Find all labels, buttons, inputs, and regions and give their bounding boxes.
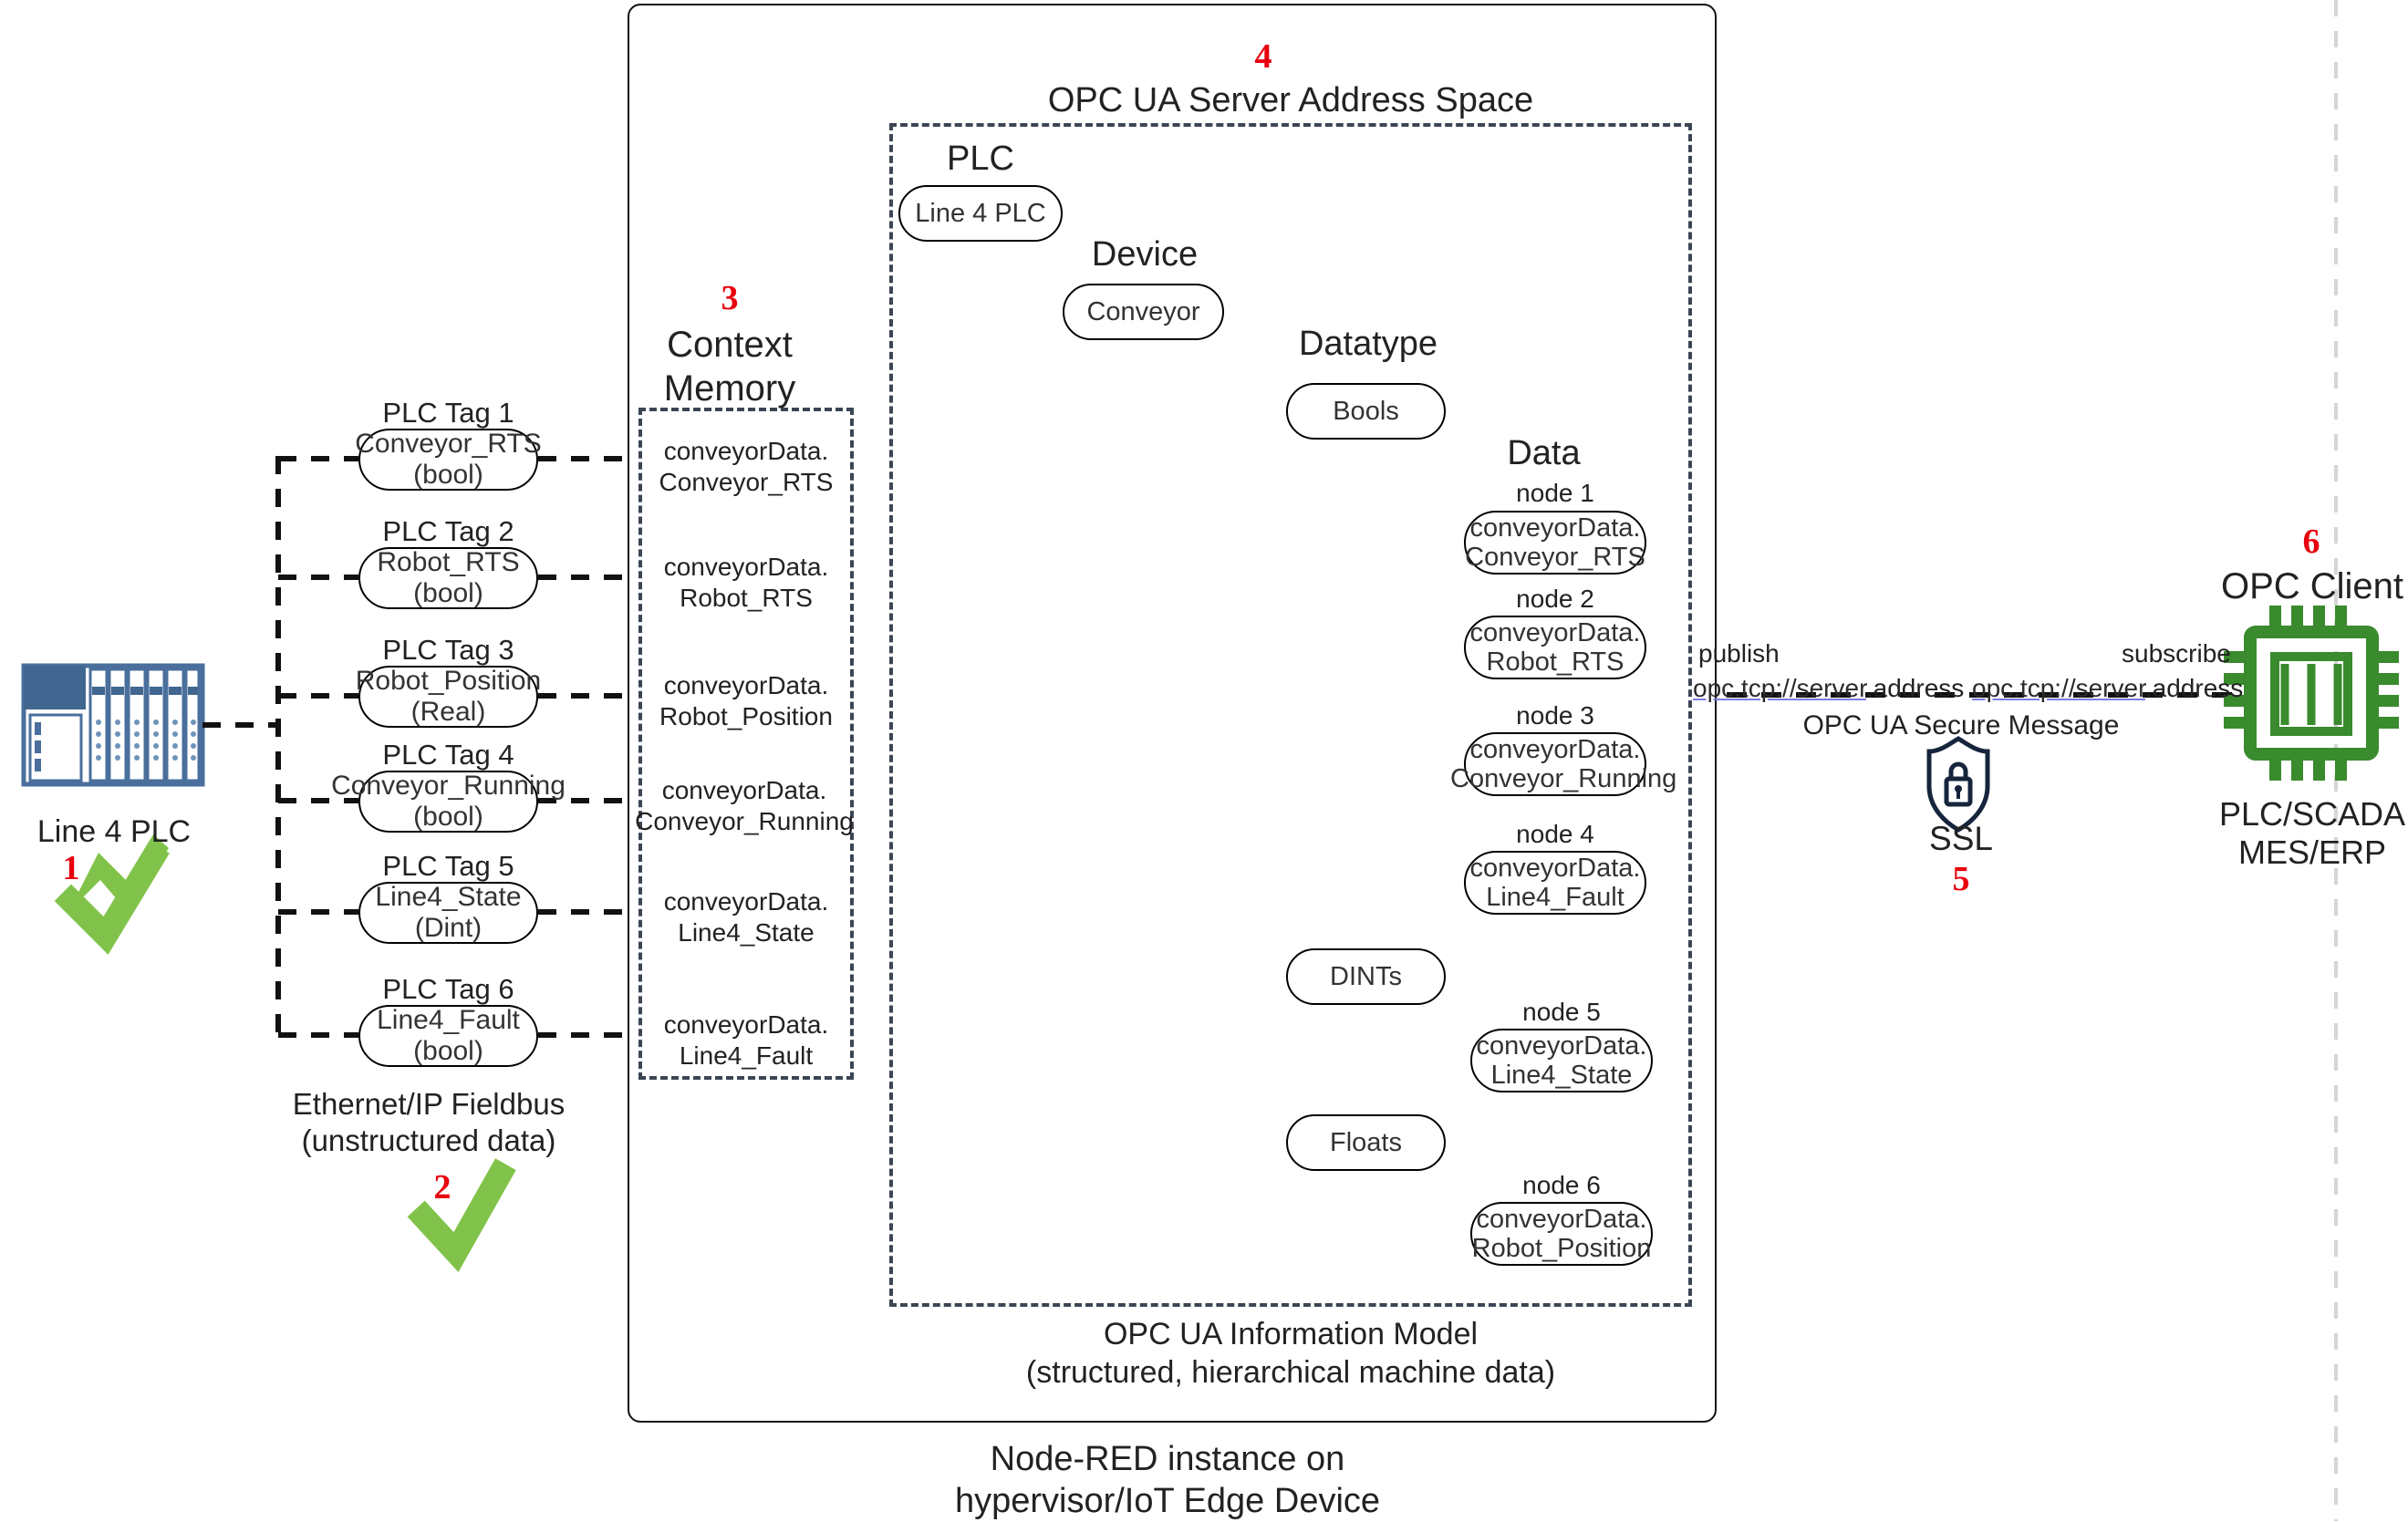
data-node-caption: node 4: [1464, 819, 1646, 850]
data-node[interactable]: conveyorData. Robot_RTS: [1464, 616, 1646, 679]
data-node-caption: node 2: [1464, 584, 1646, 615]
column-header-plc: PLC: [908, 139, 1053, 180]
publish-url-link[interactable]: opc.tcp://server: [1693, 674, 1866, 702]
address-node-label: Line 4 PLC: [915, 199, 1046, 228]
plc-tag-name: Conveyor_RTS: [355, 429, 542, 460]
data-node-line1: conveyorData.: [1470, 854, 1641, 883]
data-node-caption: node 6: [1470, 1170, 1653, 1201]
data-node[interactable]: conveyorData. Line4_Fault: [1464, 851, 1646, 915]
fieldbus-label-line2: (unstructured data): [255, 1123, 602, 1159]
plc-tag-caption: PLC Tag 5: [358, 850, 538, 884]
information-model-caption-line1: OPC UA Information Model: [889, 1316, 1692, 1352]
context-memory-entry: conveyorData.: [638, 1009, 854, 1041]
address-space-title: OPC UA Server Address Space: [889, 80, 1692, 121]
data-node-line2: Robot_Position: [1472, 1234, 1652, 1263]
context-memory-entry: conveyorData.: [633, 775, 856, 806]
plc-tag-node[interactable]: Robot_Position (Real): [358, 666, 538, 728]
plc-tag-type: (bool): [413, 802, 483, 833]
address-node-device[interactable]: Conveyor: [1063, 284, 1224, 340]
plc-device-label: Line 4 PLC: [0, 813, 228, 850]
column-header-datatype: Datatype: [1277, 324, 1459, 365]
plc-tag-name: Line4_State: [375, 882, 521, 913]
context-memory-entry: conveyorData.: [638, 436, 854, 467]
data-node[interactable]: conveyorData. Conveyor_Running: [1464, 732, 1646, 796]
plc-tag-type: (bool): [413, 578, 483, 609]
data-node-line1: conveyorData.: [1470, 513, 1641, 543]
step-4-number: 4: [1236, 36, 1291, 77]
data-node-line2: Line4_State: [1491, 1061, 1633, 1090]
context-memory-entry: Line4_Fault: [638, 1041, 854, 1072]
nodered-footer-line1: Node-RED instance on: [848, 1439, 1487, 1480]
step-5-number: 5: [1934, 859, 1988, 899]
plc-tag-type: (bool): [413, 460, 483, 491]
data-node[interactable]: conveyorData. Conveyor_RTS: [1464, 511, 1646, 575]
context-memory-entry: conveyorData.: [638, 552, 854, 583]
fieldbus-label-line1: Ethernet/IP Fieldbus: [255, 1087, 602, 1123]
plc-tag-node[interactable]: Line4_State (Dint): [358, 882, 538, 944]
plc-tag-name: Robot_RTS: [377, 547, 519, 578]
subscribe-label: subscribe: [2122, 638, 2231, 669]
plc-tag-name: Robot_Position: [356, 666, 541, 697]
publish-label: publish: [1698, 638, 1780, 669]
subscribe-url-link[interactable]: opc.tcp://server: [1972, 674, 2145, 702]
data-node-line1: conveyorData.: [1470, 618, 1641, 647]
plc-tag-caption: PLC Tag 1: [358, 397, 538, 430]
data-node[interactable]: conveyorData. Robot_Position: [1470, 1202, 1653, 1266]
opc-client-title: OPC Client: [2171, 565, 2408, 608]
plc-rack-icon: [24, 666, 202, 784]
publish-endpoint-url[interactable]: opc.tcp://server.address: [1693, 673, 1964, 704]
data-node-line1: conveyorData.: [1477, 1031, 1647, 1061]
subscribe-url-tail: .address: [2145, 674, 2243, 702]
plc-tag-caption: PLC Tag 3: [358, 634, 538, 668]
data-node-line2: Conveyor_Running: [1450, 764, 1660, 793]
plc-tag-node[interactable]: Conveyor_Running (bool): [358, 771, 538, 833]
publish-url-tail: .address: [1866, 674, 1964, 702]
context-memory-entry: Robot_Position: [638, 701, 854, 732]
context-memory-entry: Conveyor_Running: [633, 806, 856, 837]
plc-tag-node[interactable]: Line4_Fault (bool): [358, 1005, 538, 1067]
shield-lock-icon: [1929, 739, 1988, 830]
step-2-number: 2: [415, 1167, 470, 1207]
data-node-line1: conveyorData.: [1477, 1205, 1647, 1234]
step-6-number: 6: [2284, 522, 2339, 562]
address-node-label: Conveyor: [1086, 297, 1199, 326]
data-node[interactable]: conveyorData. Line4_State: [1470, 1029, 1653, 1092]
context-memory-title-line1: Context: [611, 324, 848, 367]
context-memory-entry: conveyorData.: [638, 670, 854, 701]
information-model-caption-line2: (structured, hierarchical machine data): [889, 1354, 1692, 1391]
context-memory-title-line2: Memory: [611, 368, 848, 410]
plc-tag-caption: PLC Tag 6: [358, 973, 538, 1007]
address-node-plc[interactable]: Line 4 PLC: [898, 185, 1063, 242]
data-node-line1: conveyorData.: [1470, 735, 1641, 764]
ssl-label: SSL: [1874, 819, 2048, 859]
opc-client-sub-line1: PLC/SCADA: [2171, 795, 2408, 833]
context-memory-entry: conveyorData.: [638, 886, 854, 917]
plc-tag-type: (Real): [411, 697, 486, 728]
address-node-label: Floats: [1330, 1128, 1402, 1157]
data-node-line2: Robot_RTS: [1487, 647, 1624, 677]
cpu-chip-icon: [2224, 606, 2399, 781]
data-node-caption: node 5: [1470, 997, 1653, 1028]
secure-message-label: OPC UA Secure Message: [1733, 709, 2189, 742]
address-node-label: Bools: [1333, 397, 1399, 426]
address-node-label: DINTs: [1330, 962, 1402, 991]
address-node-datatype[interactable]: Bools: [1286, 383, 1446, 440]
plc-tag-caption: PLC Tag 2: [358, 515, 538, 549]
column-header-device: Device: [1063, 234, 1227, 275]
column-header-data: Data: [1464, 433, 1624, 474]
address-node-datatype[interactable]: Floats: [1286, 1114, 1446, 1171]
address-node-datatype[interactable]: DINTs: [1286, 948, 1446, 1005]
data-node-caption: node 1: [1464, 478, 1646, 509]
context-memory-entry: Line4_State: [638, 917, 854, 948]
plc-tag-type: (Dint): [415, 913, 482, 944]
plc-tag-caption: PLC Tag 4: [358, 739, 538, 772]
nodered-footer-line2: hypervisor/IoT Edge Device: [848, 1481, 1487, 1522]
subscribe-endpoint-url[interactable]: opc.tcp://server.address: [1972, 673, 2243, 704]
data-node-caption: node 3: [1464, 700, 1646, 731]
context-memory-entry: Robot_RTS: [638, 583, 854, 614]
data-node-line2: Conveyor_RTS: [1465, 543, 1645, 572]
plc-tag-type: (bool): [413, 1036, 483, 1067]
step-3-number: 3: [702, 278, 757, 318]
plc-tag-node[interactable]: Conveyor_RTS (bool): [358, 429, 538, 491]
plc-tag-node[interactable]: Robot_RTS (bool): [358, 547, 538, 609]
plc-tag-name: Line4_Fault: [377, 1005, 520, 1036]
data-node-line2: Line4_Fault: [1486, 883, 1624, 912]
context-memory-box: [638, 408, 854, 1080]
context-memory-entry: Conveyor_RTS: [638, 467, 854, 498]
plc-tag-name: Conveyor_Running: [331, 771, 566, 802]
step-1-number: 1: [44, 848, 99, 888]
opc-client-sub-line2: MES/ERP: [2171, 833, 2408, 872]
